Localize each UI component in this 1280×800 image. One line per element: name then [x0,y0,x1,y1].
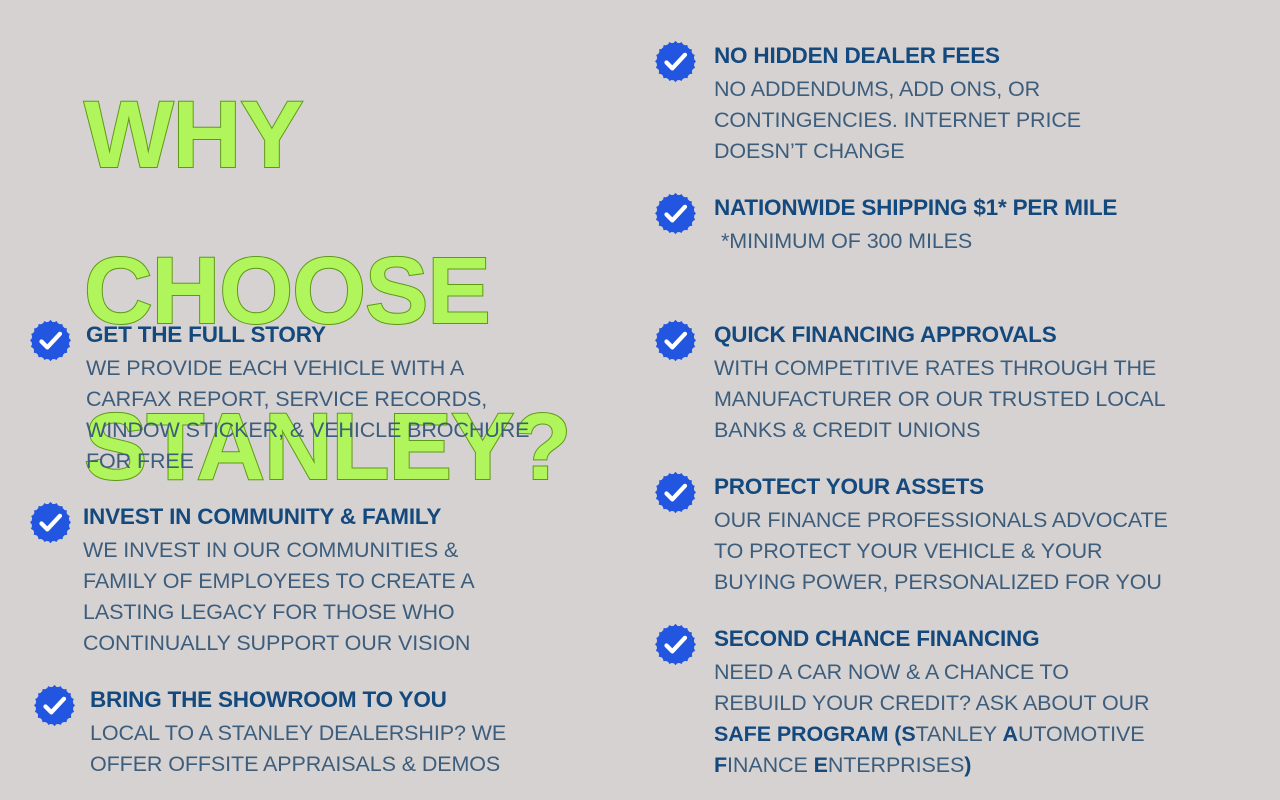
feature-text: PROTECT YOUR ASSETS OUR FINANCE PROFESSI… [698,468,1253,598]
feature-item: INVEST IN COMMUNITY & FAMILY WE INVEST I… [28,498,628,659]
feature-text: BRING THE SHOWROOM TO YOU LOCAL TO A STA… [77,681,632,780]
verified-check-badge-icon [653,623,698,668]
feature-title: PROTECT YOUR ASSETS [714,468,1253,505]
verified-check-badge-icon [28,319,73,364]
feature-title: INVEST IN COMMUNITY & FAMILY [83,498,628,535]
feature-text: NO HIDDEN DEALER FEES NO ADDENDUMS, ADD … [698,37,1233,167]
feature-text: INVEST IN COMMUNITY & FAMILY WE INVEST I… [73,498,628,659]
feature-item: NATIONWIDE SHIPPING $1* PER MILE *MINIMU… [653,189,1213,257]
feature-description: OUR FINANCE PROFESSIONALS ADVOCATE TO PR… [714,505,1253,598]
feature-text: QUICK FINANCING APPROVALS WITH COMPETITI… [698,316,1233,446]
verified-check-badge-icon [653,319,698,364]
feature-description: WITH COMPETITIVE RATES THROUGH THE MANUF… [714,353,1233,446]
page-title: WHY CHOOSE STANLEY? [84,18,604,564]
verified-check-badge-icon [28,501,73,546]
feature-description: NEED A CAR NOW & A CHANCE TO REBUILD YOU… [714,657,1233,781]
feature-title: NO HIDDEN DEALER FEES [714,37,1233,74]
feature-item: GET THE FULL STORY WE PROVIDE EACH VEHIC… [28,316,628,477]
feature-title: NATIONWIDE SHIPPING $1* PER MILE [714,189,1213,226]
feature-title: BRING THE SHOWROOM TO YOU [90,681,632,718]
feature-title: GET THE FULL STORY [86,316,628,353]
feature-title: QUICK FINANCING APPROVALS [714,316,1233,353]
feature-text: NATIONWIDE SHIPPING $1* PER MILE *MINIMU… [698,189,1213,257]
feature-item: SECOND CHANCE FINANCING NEED A CAR NOW &… [653,620,1233,781]
feature-item: BRING THE SHOWROOM TO YOU LOCAL TO A STA… [32,681,632,780]
verified-check-badge-icon [653,471,698,516]
feature-item: QUICK FINANCING APPROVALS WITH COMPETITI… [653,316,1233,446]
promo-poster: WHY CHOOSE STANLEY? GET THE FULL STORY W… [0,0,1280,800]
feature-description: NO ADDENDUMS, ADD ONS, OR CONTINGENCIES.… [714,74,1233,167]
feature-item: PROTECT YOUR ASSETS OUR FINANCE PROFESSI… [653,468,1253,598]
feature-text: SECOND CHANCE FINANCING NEED A CAR NOW &… [698,620,1233,781]
feature-item: NO HIDDEN DEALER FEES NO ADDENDUMS, ADD … [653,37,1233,167]
feature-title: SECOND CHANCE FINANCING [714,620,1233,657]
verified-check-badge-icon [32,684,77,729]
headline-line-1: WHY [84,96,604,174]
feature-description: *MINIMUM OF 300 MILES [714,226,1213,257]
feature-description: WE PROVIDE EACH VEHICLE WITH A CARFAX RE… [86,353,628,477]
verified-check-badge-icon [653,192,698,237]
feature-description: WE INVEST IN OUR COMMUNITIES & FAMILY OF… [83,535,628,659]
feature-description: LOCAL TO A STANLEY DEALERSHIP? WE OFFER … [90,718,632,780]
feature-text: GET THE FULL STORY WE PROVIDE EACH VEHIC… [73,316,628,477]
verified-check-badge-icon [653,40,698,85]
